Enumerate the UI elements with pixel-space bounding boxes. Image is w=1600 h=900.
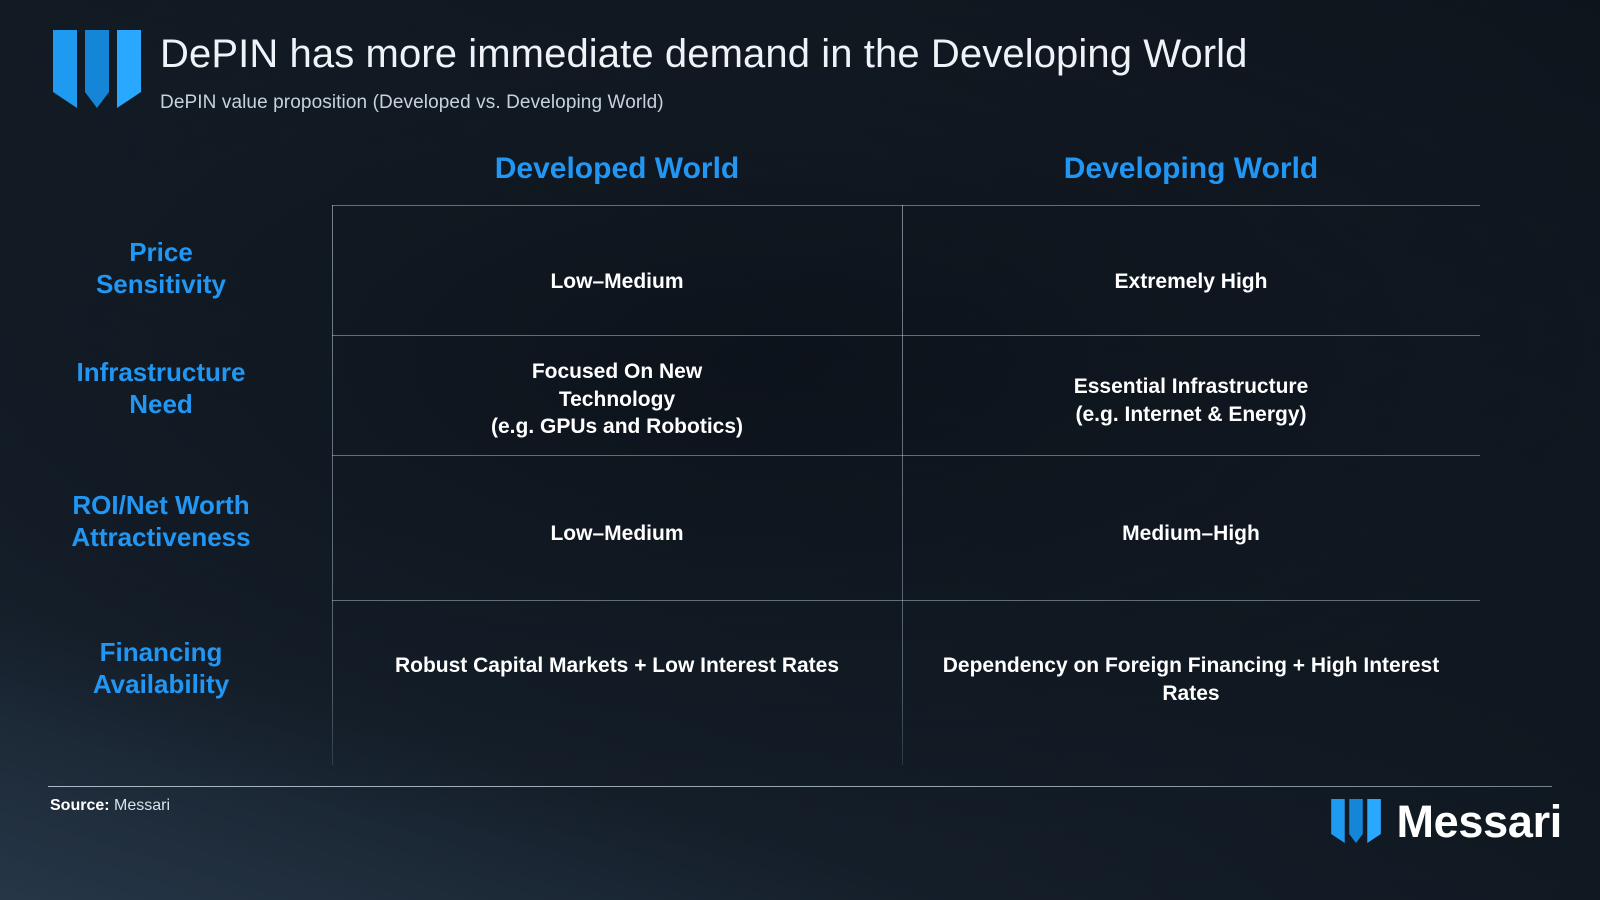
brand-wordmark: Messari [1396,799,1562,844]
source-label: Source: [50,797,110,814]
page-subtitle: DePIN value proposition (Developed vs. D… [160,92,664,114]
cell-line: Technology [332,386,902,414]
cell-financing-developing: Dependency on Foreign Financing + High I… [902,652,1480,707]
page-header: DePIN has more immediate demand in the D… [48,22,1560,132]
row-label-line: Availability [0,669,322,701]
cell-line: (e.g. GPUs and Robotics) [332,413,902,441]
row-label-line: Price [0,237,322,269]
row-label-roi-net-worth: ROI/Net Worth Attractiveness [0,490,322,553]
cell-price-sensitivity-developed: Low–Medium [332,268,902,296]
row-label-line: ROI/Net Worth [0,490,322,522]
cell-roi-developed: Low–Medium [332,520,902,548]
cell-infrastructure-need-developing: Essential Infrastructure (e.g. Internet … [902,373,1480,428]
page-title: DePIN has more immediate demand in the D… [160,32,1248,77]
footer-divider [48,786,1552,787]
messari-m-logo-icon [51,30,143,108]
cell-financing-developed: Robust Capital Markets + Low Interest Ra… [332,652,902,680]
cell-line: (e.g. Internet & Energy) [902,401,1480,429]
source-value: Messari [114,797,170,814]
table-row-divider [332,335,1480,336]
row-label-line: Financing [0,637,322,669]
source-note: Source: Messari [50,797,170,815]
row-label-line: Need [0,389,322,421]
messari-m-logo-icon [1330,799,1382,843]
column-header-developed: Developed World [332,152,902,186]
row-label-infrastructure-need: Infrastructure Need [0,357,322,420]
footer-brand: Messari [1330,795,1562,847]
table-row-divider [332,205,1480,206]
cell-price-sensitivity-developing: Extremely High [902,268,1480,296]
cell-roi-developing: Medium–High [902,520,1480,548]
cell-line: Essential Infrastructure [902,373,1480,401]
cell-infrastructure-need-developed: Focused On New Technology (e.g. GPUs and… [332,358,902,441]
row-label-price-sensitivity: Price Sensitivity [0,237,322,300]
table-row-divider [332,600,1480,601]
table-row-divider [332,455,1480,456]
row-label-line: Attractiveness [0,522,322,554]
cell-line: Focused On New [332,358,902,386]
row-label-line: Infrastructure [0,357,322,389]
row-label-financing-availability: Financing Availability [0,637,322,700]
column-header-developing: Developing World [902,152,1480,186]
row-label-line: Sensitivity [0,269,322,301]
